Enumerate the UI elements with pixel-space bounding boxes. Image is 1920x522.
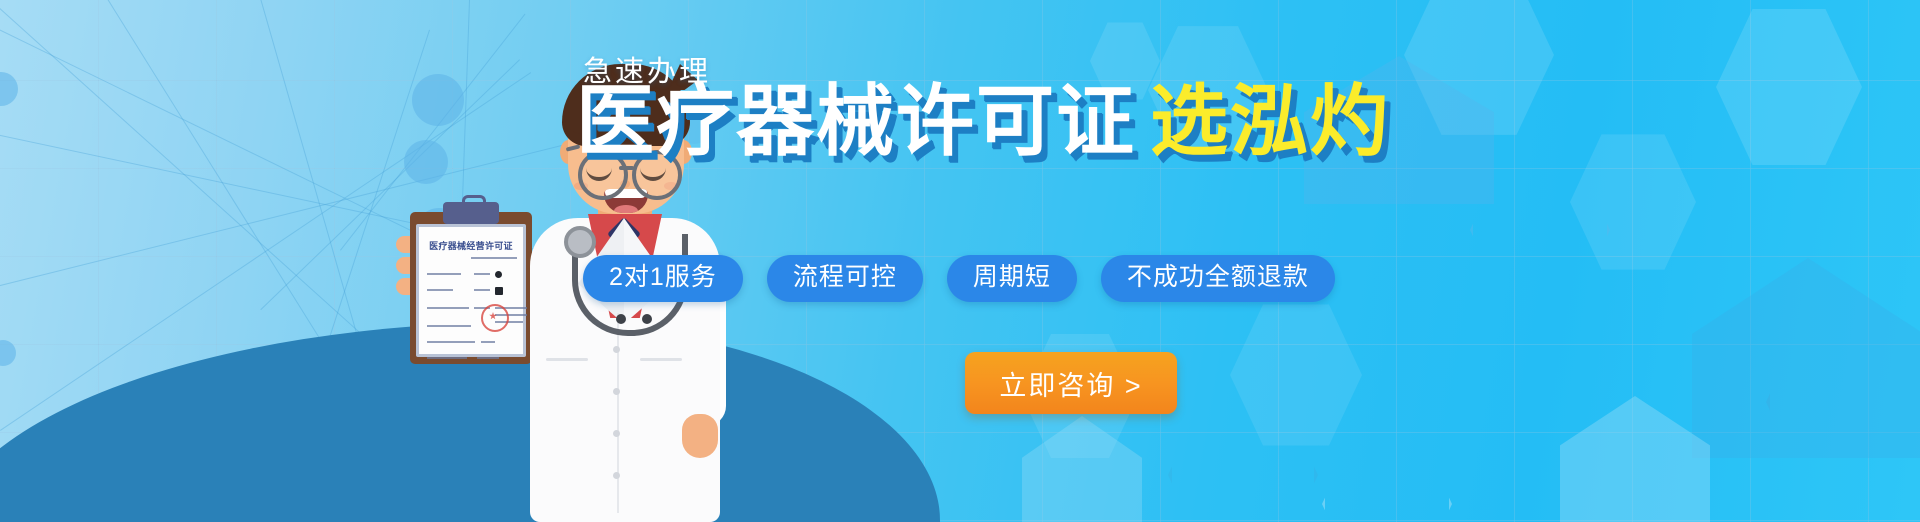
- coat-button: [613, 346, 620, 353]
- certificate-paper: 医疗器械经营许可证: [419, 227, 523, 354]
- promo-banner: 医疗器械经营许可证: [0, 0, 1920, 522]
- stethoscope-tip: [642, 314, 652, 324]
- clipboard-clip-ring: [462, 195, 486, 211]
- stethoscope-tip: [616, 314, 626, 324]
- consult-now-button[interactable]: 立即咨询 >: [965, 352, 1177, 414]
- headline-primary: 医疗器械许可证: [576, 77, 1136, 165]
- coat-button: [613, 388, 620, 395]
- feature-pill[interactable]: 不成功全额退款: [1101, 255, 1335, 302]
- feature-pill-list: 2对1服务 流程可控 周期短 不成功全额退款: [583, 255, 1335, 302]
- tongue: [614, 205, 638, 213]
- doctor-hand: [682, 414, 718, 458]
- feature-pill[interactable]: 2对1服务: [583, 255, 743, 302]
- headline-accent: 选泓灼: [1150, 77, 1390, 165]
- coat-pocket-left: [546, 358, 588, 361]
- eyeglasses-bridge: [619, 166, 634, 170]
- certificate-title: 医疗器械经营许可证: [427, 239, 515, 252]
- coat-pocket-right: [640, 358, 682, 361]
- coat-placket: [617, 313, 619, 513]
- clipboard-prop: 医疗器械经营许可证: [410, 212, 532, 364]
- coat-button: [613, 430, 620, 437]
- clipboard-mat: 医疗器械经营许可证: [416, 224, 526, 357]
- headline: 医疗器械许可证选泓灼: [576, 82, 1390, 160]
- feature-pill[interactable]: 流程可控: [767, 255, 923, 302]
- stethoscope-bell: [564, 226, 596, 258]
- coat-button: [613, 472, 620, 479]
- feature-pill[interactable]: 周期短: [947, 255, 1077, 302]
- official-seal-icon: [481, 304, 509, 332]
